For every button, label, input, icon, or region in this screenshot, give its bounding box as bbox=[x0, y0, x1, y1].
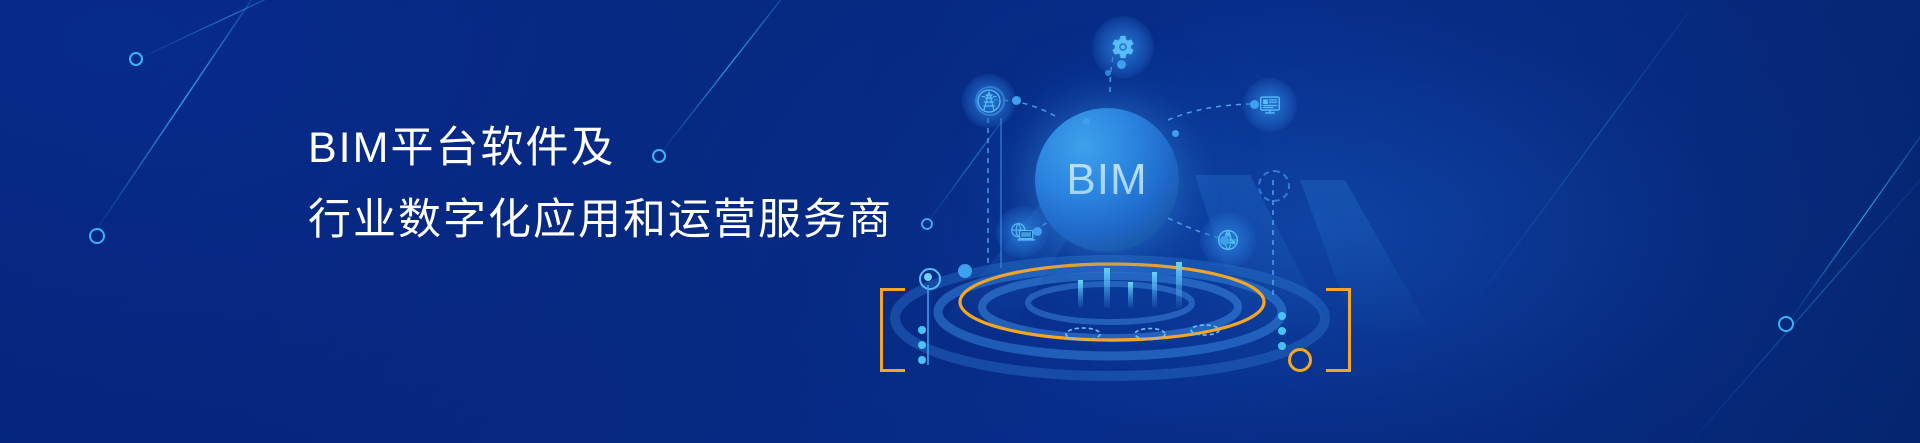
bim-sphere-label: BIM bbox=[1035, 108, 1179, 252]
page-title: BIM平台软件及 行业数字化应用和运营服务商 bbox=[308, 112, 893, 256]
laptop-globe-icon bbox=[1008, 219, 1036, 245]
connector-dot bbox=[1083, 118, 1090, 125]
background-decorative-lines bbox=[0, 0, 1920, 443]
dashed-ring bbox=[1258, 170, 1290, 202]
gear-icon bbox=[1110, 34, 1136, 60]
dot-column-left-1 bbox=[918, 326, 926, 334]
dot-column-right-1 bbox=[1278, 312, 1286, 320]
stem-ring bbox=[975, 86, 1005, 116]
connector-dot bbox=[1250, 100, 1259, 109]
connector-dot bbox=[1033, 227, 1042, 236]
headline-line-2: 行业数字化应用和运营服务商 bbox=[308, 184, 893, 256]
connector-dot bbox=[1012, 96, 1021, 105]
hero-banner: BIM平台软件及 行业数字化应用和运营服务商 BIM bbox=[0, 0, 1920, 443]
dot-column-left-3 bbox=[918, 356, 926, 364]
floating-dot bbox=[1105, 70, 1111, 76]
floating-dot bbox=[958, 264, 972, 278]
monitor-icon bbox=[1257, 92, 1283, 118]
stem-line-center bbox=[1000, 118, 1002, 268]
accent-circle bbox=[1288, 348, 1312, 372]
dot-column-right-3 bbox=[1278, 342, 1286, 350]
connector-dot bbox=[1172, 130, 1179, 137]
dot-column-right-2 bbox=[1278, 327, 1286, 335]
stem-line-left bbox=[927, 285, 929, 365]
connector-dot bbox=[1220, 236, 1229, 245]
headline-line-1: BIM平台软件及 bbox=[308, 112, 893, 184]
bracket-right bbox=[1326, 288, 1351, 372]
bim-sphere: BIM bbox=[1035, 108, 1179, 252]
dot-column-left-2 bbox=[918, 341, 926, 349]
connector-dot bbox=[1117, 60, 1126, 69]
bracket-left bbox=[880, 288, 905, 372]
